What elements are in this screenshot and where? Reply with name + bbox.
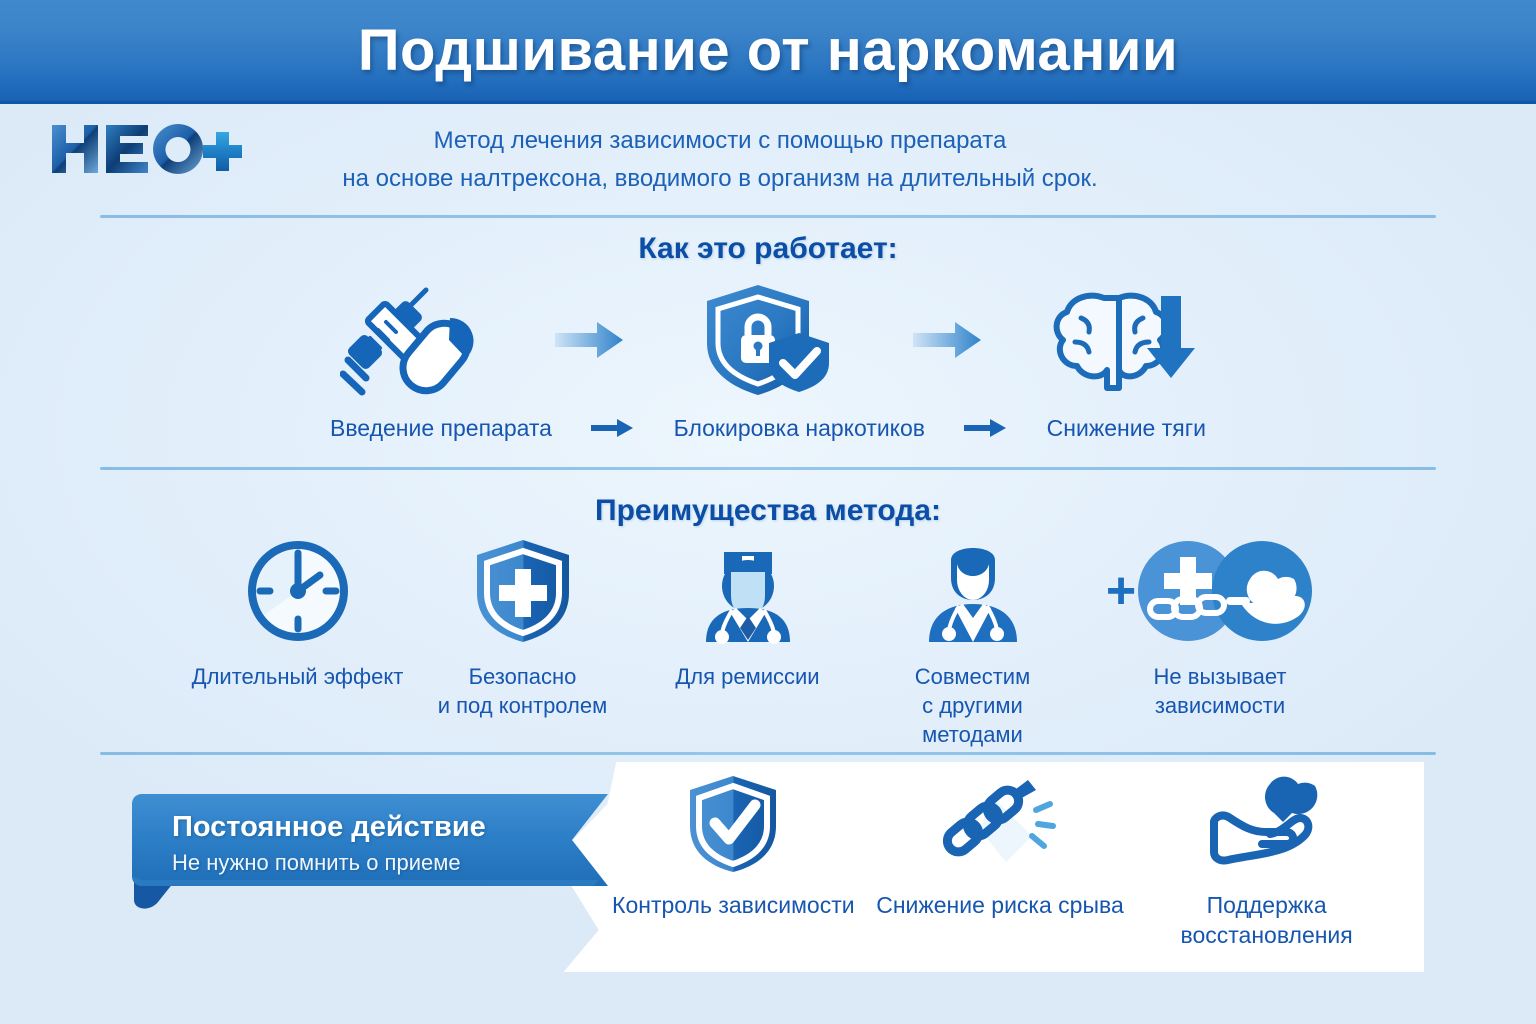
how-it-works-icons (330, 280, 1206, 400)
how-it-works-heading: Как это работает: (0, 232, 1536, 266)
bottom-item-3: Поддержка восстановления (1142, 772, 1392, 950)
benefit-item-5: + Не вызывает зависимости (1090, 536, 1350, 720)
benefit-label-4: Совместим с другими методами (915, 662, 1030, 749)
broken-chain-heart-icon (1130, 539, 1320, 643)
benefits-heading: Преимущества метода: (0, 494, 1536, 528)
bottom-items-row: Контроль зависимости (600, 772, 1400, 967)
divider-top (100, 215, 1436, 218)
bottom-label-3: Поддержка восстановления (1181, 890, 1353, 950)
shield-lock-icon (688, 281, 848, 399)
shield-cross-icon (474, 536, 572, 646)
benefit-label-5: Не вызывает зависимости (1154, 662, 1287, 720)
subtitle-line-2: на основе налтрексона, вводимого в орган… (270, 160, 1170, 198)
syringe-pill-icon (330, 281, 490, 399)
ribbon-text-block: Постоянное действие Не нужно помнить о п… (172, 808, 592, 880)
bottom-label-1: Контроль зависимости (612, 890, 855, 920)
divider-middle (100, 467, 1436, 470)
clock-icon (246, 536, 350, 646)
benefit-label-1: Длительный эффект (192, 662, 404, 691)
hand-heart-icon (1208, 772, 1326, 876)
benefits-row: Длительный эффект Безопасно и под контро… (190, 536, 1350, 736)
benefit-item-3: Для ремиссии (640, 536, 855, 691)
ribbon-subtitle: Не нужно помнить о приеме (172, 846, 592, 880)
ribbon-title: Постоянное действие (172, 808, 592, 846)
neo-plus-logo (48, 118, 248, 180)
benefit-label-2: Безопасно и под контролем (438, 662, 608, 720)
page-title: Подшивание от наркомании (358, 17, 1178, 84)
subtitle-line-1: Метод лечения зависимости с помощью преп… (270, 122, 1170, 160)
brain-down-arrow-icon (1046, 281, 1206, 399)
bottom-item-1: Контроль зависимости (608, 772, 858, 920)
broken-chain-heart-group: + (1120, 536, 1320, 646)
arrow-small-icon-1 (583, 418, 643, 438)
poster-subtitle: Метод лечения зависимости с помощью преп… (270, 122, 1170, 198)
arrow-right-icon-1 (549, 318, 629, 362)
doctor-icon (688, 536, 808, 646)
benefit-item-2: Безопасно и под контролем (415, 536, 630, 720)
benefit-label-3: Для ремиссии (675, 662, 819, 691)
divider-bottom (100, 752, 1436, 755)
medic-person-icon (917, 536, 1029, 646)
infographic-poster: Подшивание от наркомании (0, 0, 1536, 1024)
benefit-item-4: Совместим с другими методами (865, 536, 1080, 749)
how-step-label-2: Блокировка наркотиков (674, 415, 925, 442)
arrow-right-icon-2 (907, 318, 987, 362)
poster-header: Подшивание от наркомании (0, 0, 1536, 104)
benefit-item-1: Длительный эффект (190, 536, 405, 691)
bottom-label-2: Снижение риска срыва (876, 890, 1124, 920)
bottom-item-2: Снижение риска срыва (875, 772, 1125, 920)
arrow-small-icon-2 (956, 418, 1016, 438)
logo-svg (48, 119, 243, 179)
broken-chain-icon (940, 772, 1060, 876)
how-it-works-labels: Введение препарата Блокировка наркотиков… (330, 408, 1206, 448)
how-step-label-1: Введение препарата (330, 415, 552, 442)
how-step-label-3: Снижение тяги (1047, 415, 1206, 442)
shield-check-icon (687, 772, 779, 876)
